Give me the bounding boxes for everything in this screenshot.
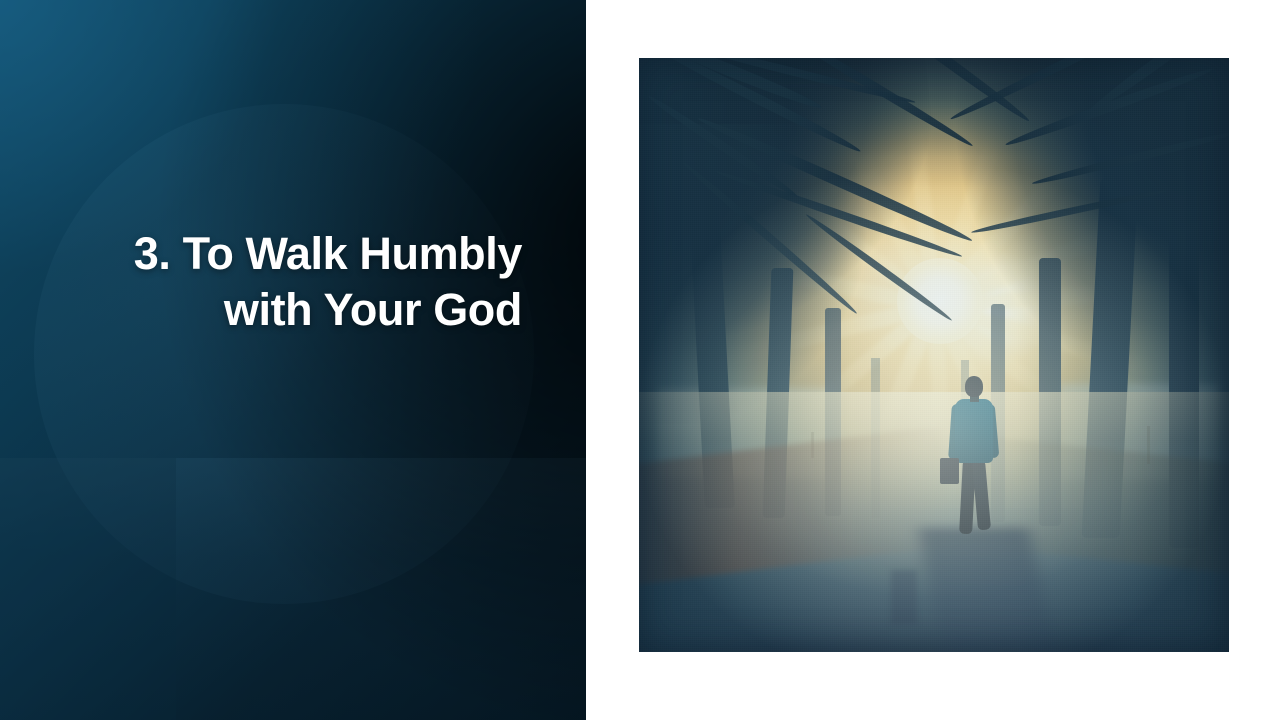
panel-vignette	[0, 0, 586, 720]
page-title: 3. To Walk Humbly with Your God	[60, 226, 522, 338]
slide-photo	[639, 58, 1229, 652]
title-line-2: with Your God	[60, 282, 522, 338]
left-title-panel: 3. To Walk Humbly with Your God	[0, 0, 586, 720]
slide-canvas: 3. To Walk Humbly with Your God	[0, 0, 1280, 720]
title-line-1: 3. To Walk Humbly	[60, 226, 522, 282]
photo-mist-haze	[639, 58, 1229, 652]
image-stage	[586, 0, 1280, 720]
